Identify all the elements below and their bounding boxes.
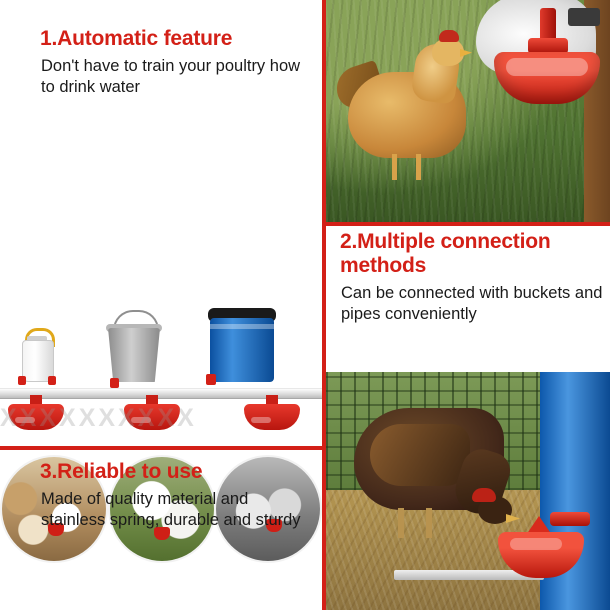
- water-jug-icon: [16, 326, 58, 382]
- barrel-outlet: [206, 374, 216, 385]
- feature-2-body: Can be connected with buckets and pipes …: [341, 283, 603, 326]
- bucket-body: [108, 328, 160, 382]
- feature-1-body: Don't have to train your poultry how to …: [41, 56, 309, 99]
- water-surface: [506, 58, 588, 76]
- dark-hen-wing: [370, 424, 470, 486]
- hen-leg-right: [416, 154, 421, 180]
- metal-bucket-icon: [104, 310, 164, 384]
- dark-hen-drinking-photo: [326, 372, 610, 610]
- dark-hen-leg-right: [426, 508, 432, 538]
- barrel-ring: [210, 324, 274, 329]
- feature-3-panel: 3.Reliable to use Made of quality materi…: [0, 450, 322, 610]
- feature-1-panel: 1.Automatic feature Don't have to train …: [0, 0, 322, 150]
- red-drinker-cup-mounted: [494, 8, 600, 140]
- brown-hen: [340, 36, 476, 176]
- dark-hen-leg-left: [398, 508, 404, 538]
- feature-3-body: Made of quality material and stainless s…: [41, 489, 303, 532]
- bucket-outlet: [110, 378, 119, 388]
- mounting-bracket: [568, 8, 600, 26]
- feature-2-title: 2.Multiple connection methods: [340, 230, 608, 277]
- drinker-arm: [550, 512, 590, 526]
- blue-barrel-icon: [206, 302, 278, 386]
- jug-outlet-right: [48, 376, 56, 385]
- hen-leg-left: [392, 154, 397, 180]
- feature-2-panel: 2.Multiple connection methods Can be con…: [326, 226, 610, 368]
- dark-hen: [354, 402, 522, 572]
- hen-with-red-drinker-photo: [326, 0, 610, 222]
- dark-hen-comb: [472, 488, 496, 502]
- hen-beak: [460, 49, 472, 57]
- product-feature-collage: 1.Automatic feature Don't have to train …: [0, 0, 610, 610]
- water-surface: [510, 538, 562, 550]
- feature-1-title: 1.Automatic feature: [40, 27, 232, 51]
- jug-outlet-left: [18, 376, 26, 385]
- connection-illustration: [0, 150, 322, 350]
- hen-head: [432, 38, 464, 66]
- watermark-text: XXXXXXXXXX: [0, 404, 322, 448]
- hen-comb: [439, 30, 459, 42]
- feature-3-title: 3.Reliable to use: [40, 460, 202, 484]
- red-drinker-cup-on-barrel: [498, 498, 590, 594]
